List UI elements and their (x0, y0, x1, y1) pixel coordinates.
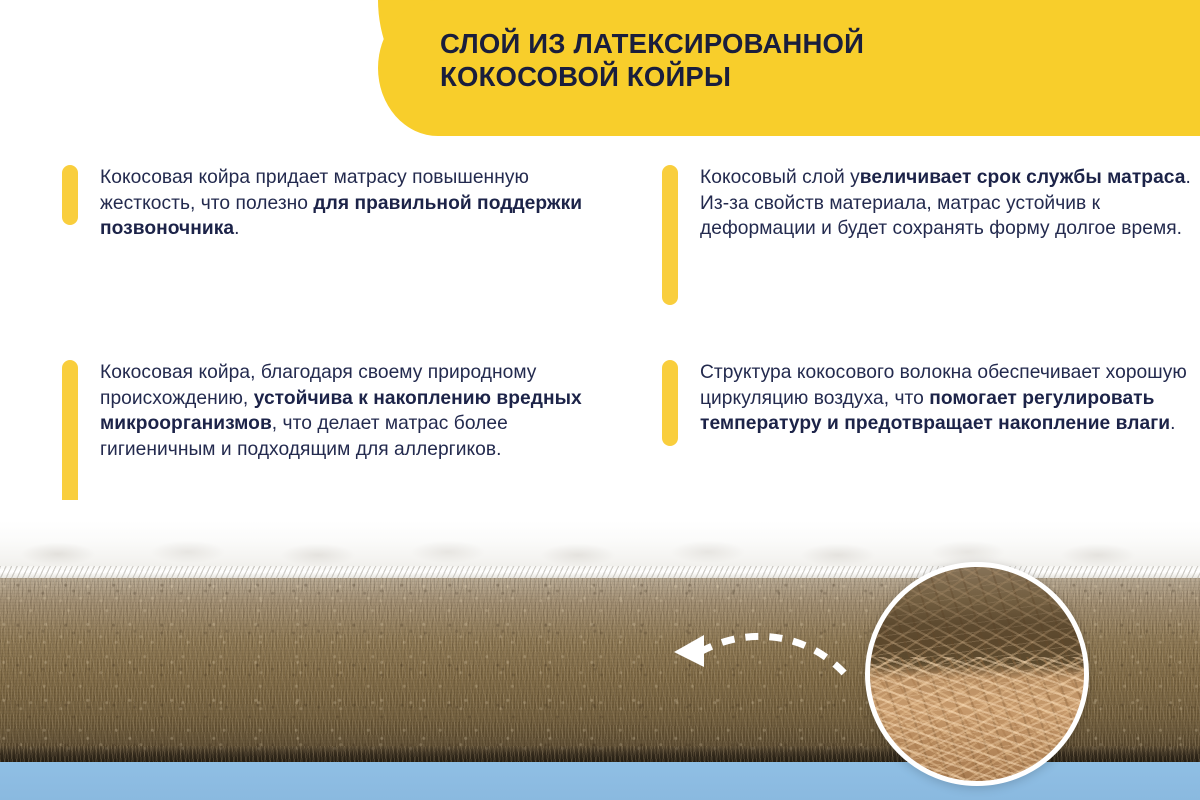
accent-bar-icon (662, 165, 678, 305)
dashed-arrow-icon (660, 605, 890, 695)
benefit-block-1: Кокосовая койра придает матрасу повышенн… (62, 165, 602, 242)
benefit-text-2: Кокосовый слой увеличивает срок службы м… (700, 165, 1200, 242)
benefit-block-2: Кокосовый слой увеличивает срок службы м… (662, 165, 1200, 305)
infographic-poster: СЛОЙ ИЗ ЛАТЕКСИРОВАННОЙ КОКОСОВОЙ КОЙРЫ … (0, 0, 1200, 800)
mattress-photo (0, 500, 1200, 800)
accent-bar-icon (62, 360, 78, 516)
mattress-white-cover (0, 500, 1200, 574)
accent-bar-icon (662, 360, 678, 446)
page-title: СЛОЙ ИЗ ЛАТЕКСИРОВАННОЙ КОКОСОВОЙ КОЙРЫ (440, 27, 1160, 93)
benefit-block-4: Структура кокосового волокна обеспечивае… (662, 360, 1200, 446)
magnified-loose-fibers (870, 657, 1084, 781)
benefit-text-3: Кокосовая койра, благодаря своему природ… (100, 360, 622, 462)
benefit-block-3: Кокосовая койра, благодаря своему природ… (62, 360, 622, 516)
magnified-upper-shading (870, 567, 1084, 665)
accent-bar-icon (62, 165, 78, 225)
benefit-text-4: Структура кокосового волокна обеспечивае… (700, 360, 1200, 437)
magnifier-circle (865, 562, 1089, 786)
benefit-text-1: Кокосовая койра придает матрасу повышенн… (100, 165, 602, 242)
